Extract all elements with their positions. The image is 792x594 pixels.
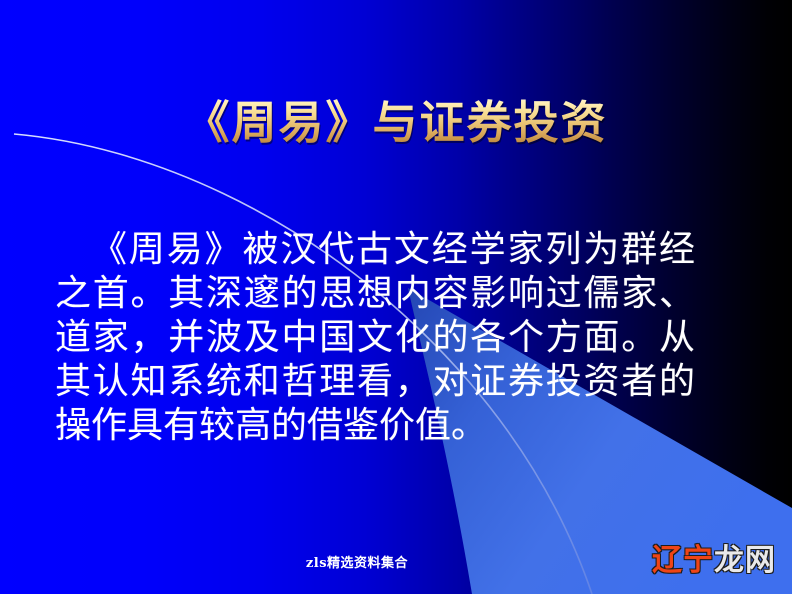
body-paragraph: 《周易》被汉代古文经学家列为群经之首。其深邃的思想内容影响过儒家、道家，并波及中…	[55, 228, 695, 448]
watermark-text-secondary: 龙网	[714, 543, 776, 578]
body-text-block: 《周易》被汉代古文经学家列为群经之首。其深邃的思想内容影响过儒家、道家，并波及中…	[55, 228, 695, 448]
watermark-logo: 辽宁龙网	[652, 546, 776, 576]
page-title: 《周易》与证券投资	[0, 96, 792, 151]
watermark-text-primary: 辽宁	[652, 543, 714, 578]
presentation-slide: 《周易》与证券投资 《周易》被汉代古文经学家列为群经之首。其深邃的思想内容影响过…	[0, 0, 792, 594]
